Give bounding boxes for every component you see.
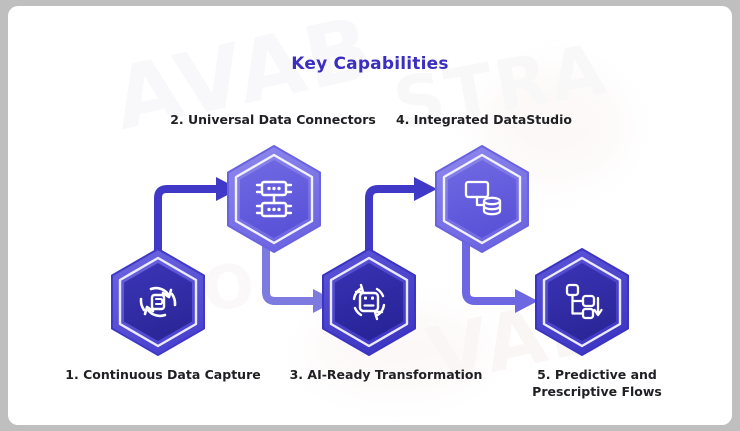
- screenshot-frame: AVAB STRA VAL SO Key Capabilities: [0, 0, 740, 431]
- step-label-2: 2. Universal Data Connectors: [158, 111, 388, 128]
- diagram-canvas: [8, 6, 732, 425]
- step-label-1: 1. Continuous Data Capture: [48, 366, 278, 383]
- hexagon-step-5[interactable]: [536, 249, 628, 355]
- hexagon-step-2[interactable]: [228, 146, 320, 252]
- step-label-4: 4. Integrated DataStudio: [390, 111, 578, 128]
- step-label-3: 3. AI-Ready Transformation: [266, 366, 506, 383]
- hexagon-step-3[interactable]: [323, 249, 415, 355]
- step-label-5: 5. Predictive and Prescriptive Flows: [513, 366, 681, 400]
- hexagon-step-1[interactable]: [112, 249, 204, 355]
- slide-card: AVAB STRA VAL SO Key Capabilities: [8, 6, 732, 425]
- hexagon-step-4[interactable]: [436, 146, 528, 252]
